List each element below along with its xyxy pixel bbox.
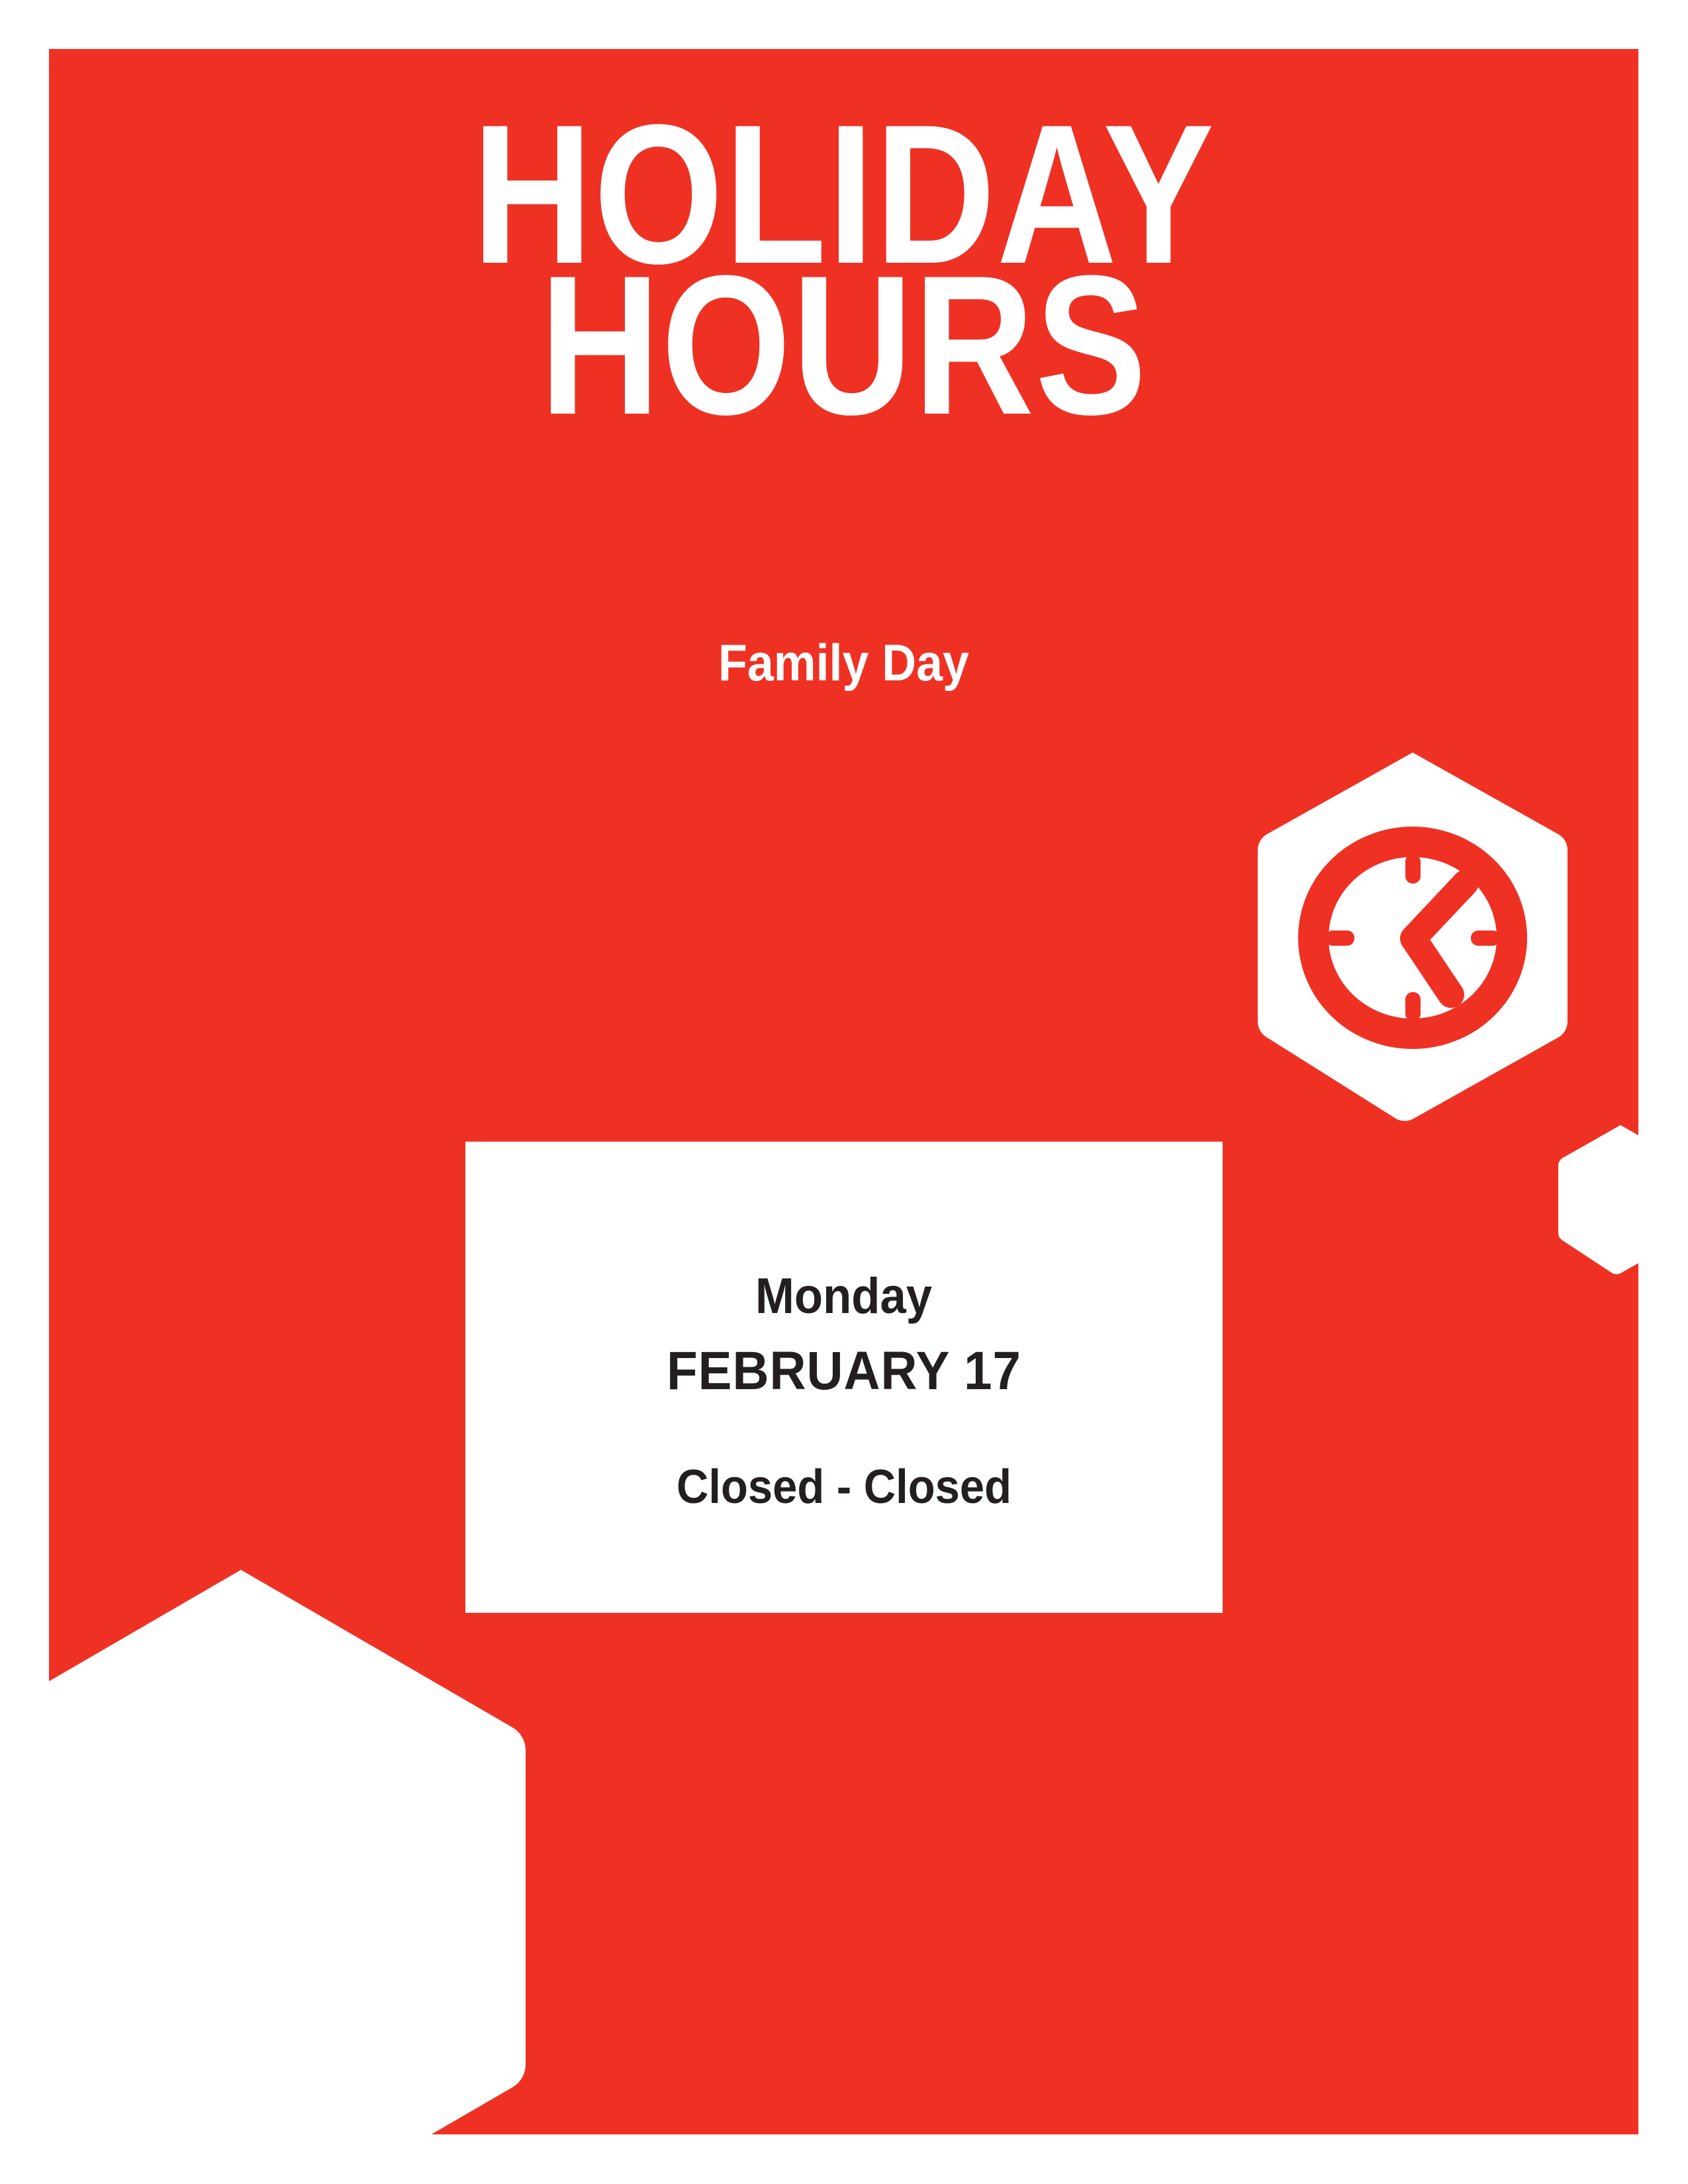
clock-icon (1313, 842, 1512, 1034)
card-day-label: Monday (755, 1271, 932, 1322)
hours-info-card: Monday FEBRUARY 17 Closed - Closed (465, 1142, 1223, 1613)
page-title-line-2: HOURS (176, 259, 1511, 430)
page-subtitle: Family Day (113, 637, 1575, 688)
card-date-label: FEBRUARY 17 (667, 1344, 1021, 1398)
hexagon-shape (49, 1570, 526, 2134)
red-background-panel: HOLIDAY HOURS Family Day Mond (49, 49, 1638, 2134)
hexagon-shape (1558, 1125, 1638, 1274)
hexagon-badge (1252, 747, 1573, 1124)
card-hours-label: Closed - Closed (677, 1463, 1011, 1511)
holiday-hours-poster: HOLIDAY HOURS Family Day Mond (0, 0, 1688, 2184)
hexagon-accent-large (49, 1563, 536, 2134)
page-title-line-1: HOLIDAY (176, 109, 1511, 279)
hexagon-accent-small (1556, 1122, 1638, 1276)
